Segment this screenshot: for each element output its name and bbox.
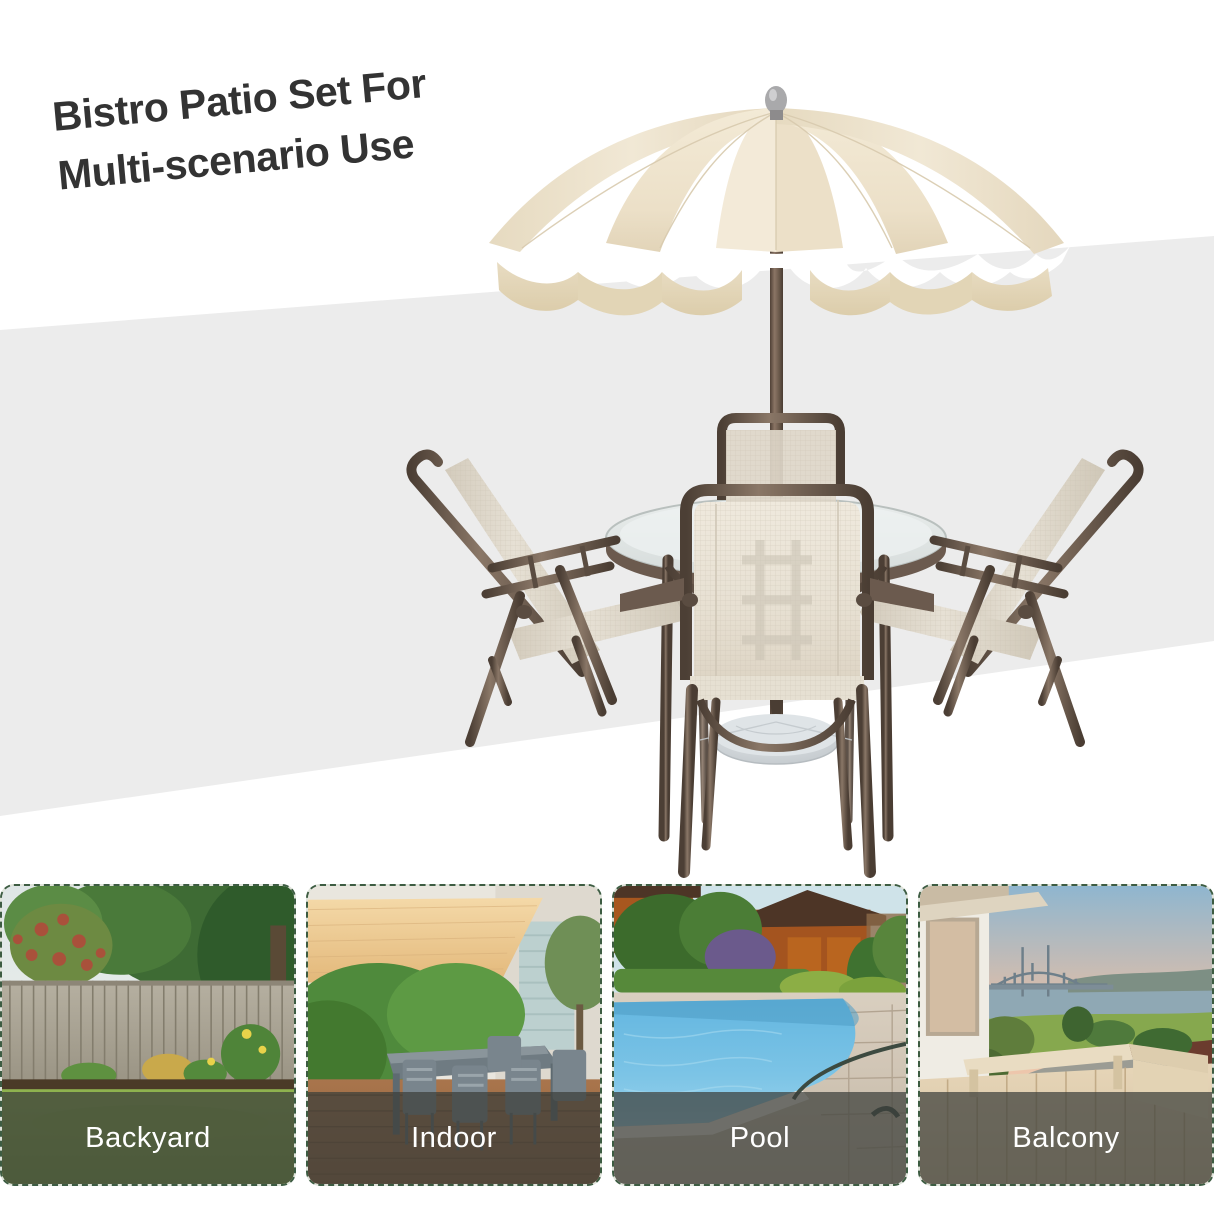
- thumbnail-label-backyard: Backyard: [85, 1124, 211, 1153]
- scenario-thumbnail-indoor[interactable]: Indoor: [306, 884, 602, 1186]
- scenario-thumbnail-backyard[interactable]: Backyard: [0, 884, 296, 1186]
- scenario-thumbnail-pool[interactable]: Pool: [612, 884, 908, 1186]
- thumbnail-caption-band-balcony: Balcony: [920, 1092, 1212, 1184]
- thumbnail-label-balcony: Balcony: [1012, 1124, 1119, 1153]
- thumbnail-label-pool: Pool: [730, 1124, 790, 1153]
- thumbnail-caption-band-indoor: Indoor: [308, 1092, 600, 1184]
- thumbnail-label-indoor: Indoor: [411, 1124, 497, 1153]
- hero-section: Bistro Patio Set For Multi-scenario Use: [0, 0, 1214, 884]
- thumbnail-caption-band-pool: Pool: [614, 1092, 906, 1184]
- umbrella-base: [700, 714, 852, 764]
- scenario-thumbnail-strip: Backyard: [0, 884, 1214, 1214]
- thumbnail-caption-band-backyard: Backyard: [2, 1092, 294, 1184]
- scenario-thumbnail-balcony[interactable]: Balcony: [918, 884, 1214, 1186]
